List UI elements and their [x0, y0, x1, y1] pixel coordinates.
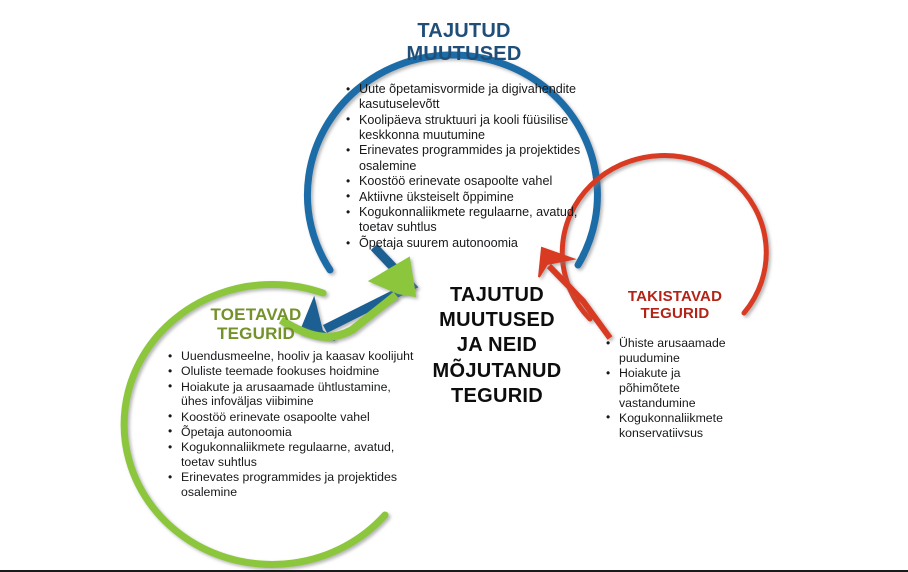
list-item: Hoiakute ja arusaamade ühtlustamine, ühe… [166, 380, 418, 410]
list-item: Erinevates programmides ja projektides o… [166, 470, 418, 500]
center-label-line: JA NEID [404, 333, 590, 358]
list-item: Õpetaja autonoomia [166, 425, 418, 440]
list-item: Koolipäeva struktuuri ja kooli füüsilise… [344, 113, 606, 143]
green-group-heading-line-2: TEGURID [168, 324, 344, 343]
list-item: Koostöö erinevate osapoolte vahel [166, 410, 418, 425]
list-item: Uuendusmeelne, hooliv ja kaasav koolijuh… [166, 349, 418, 364]
red-group-bullet-list: Ühiste arusaamade puudumine Hoiakute ja … [604, 336, 744, 441]
green-group-heading: TOETAVAD TEGURID [168, 305, 344, 344]
diagram-canvas: TAJUTUD MUUTUSED Uute õpetamisvormide ja… [0, 0, 908, 572]
blue-group-heading-line-2: MUUTUSED [334, 43, 594, 66]
center-label-line: MÕJUTANUD [404, 359, 590, 384]
list-item: Hoiakute ja põhimõtete vastandumine [604, 366, 744, 410]
blue-group-bullet-list: Uute õpetamisvormide ja digivahendite ka… [344, 82, 606, 252]
blue-group-heading-line-1: TAJUTUD [334, 20, 594, 43]
list-item: Kogukonnaliikmete regulaarne, avatud, to… [344, 205, 606, 235]
list-item: Uute õpetamisvormide ja digivahendite ka… [344, 82, 606, 112]
red-group-heading-line-1: TAKISTAVAD [600, 288, 750, 305]
red-group-heading-line-2: TEGURID [600, 305, 750, 322]
center-label-line: MUUTUSED [404, 308, 590, 333]
list-item: Kogukonnaliikmete regulaarne, avatud, to… [166, 440, 418, 470]
blue-group-heading: TAJUTUD MUUTUSED [334, 20, 594, 66]
green-group-heading-line-1: TOETAVAD [168, 305, 344, 324]
center-label-line: TEGURID [404, 384, 590, 409]
list-item: Ühiste arusaamade puudumine [604, 336, 744, 366]
list-item: Õpetaja suurem autonoomia [344, 236, 606, 251]
list-item: Koostöö erinevate osapoolte vahel [344, 174, 606, 189]
center-label: TAJUTUDMUUTUSEDJA NEIDMÕJUTANUDTEGURID [404, 283, 590, 409]
center-label-line: TAJUTUD [404, 283, 590, 308]
red-group-heading: TAKISTAVAD TEGURID [600, 288, 750, 322]
list-item: Oluliste teemade fookuses hoidmine [166, 364, 418, 379]
list-item: Kogukonnaliikmete konservatiivsus [604, 411, 744, 441]
list-item: Aktiivne üksteiselt õppimine [344, 190, 606, 205]
green-group-bullet-list: Uuendusmeelne, hooliv ja kaasav koolijuh… [166, 349, 418, 500]
list-item: Erinevates programmides ja projektides o… [344, 143, 606, 173]
